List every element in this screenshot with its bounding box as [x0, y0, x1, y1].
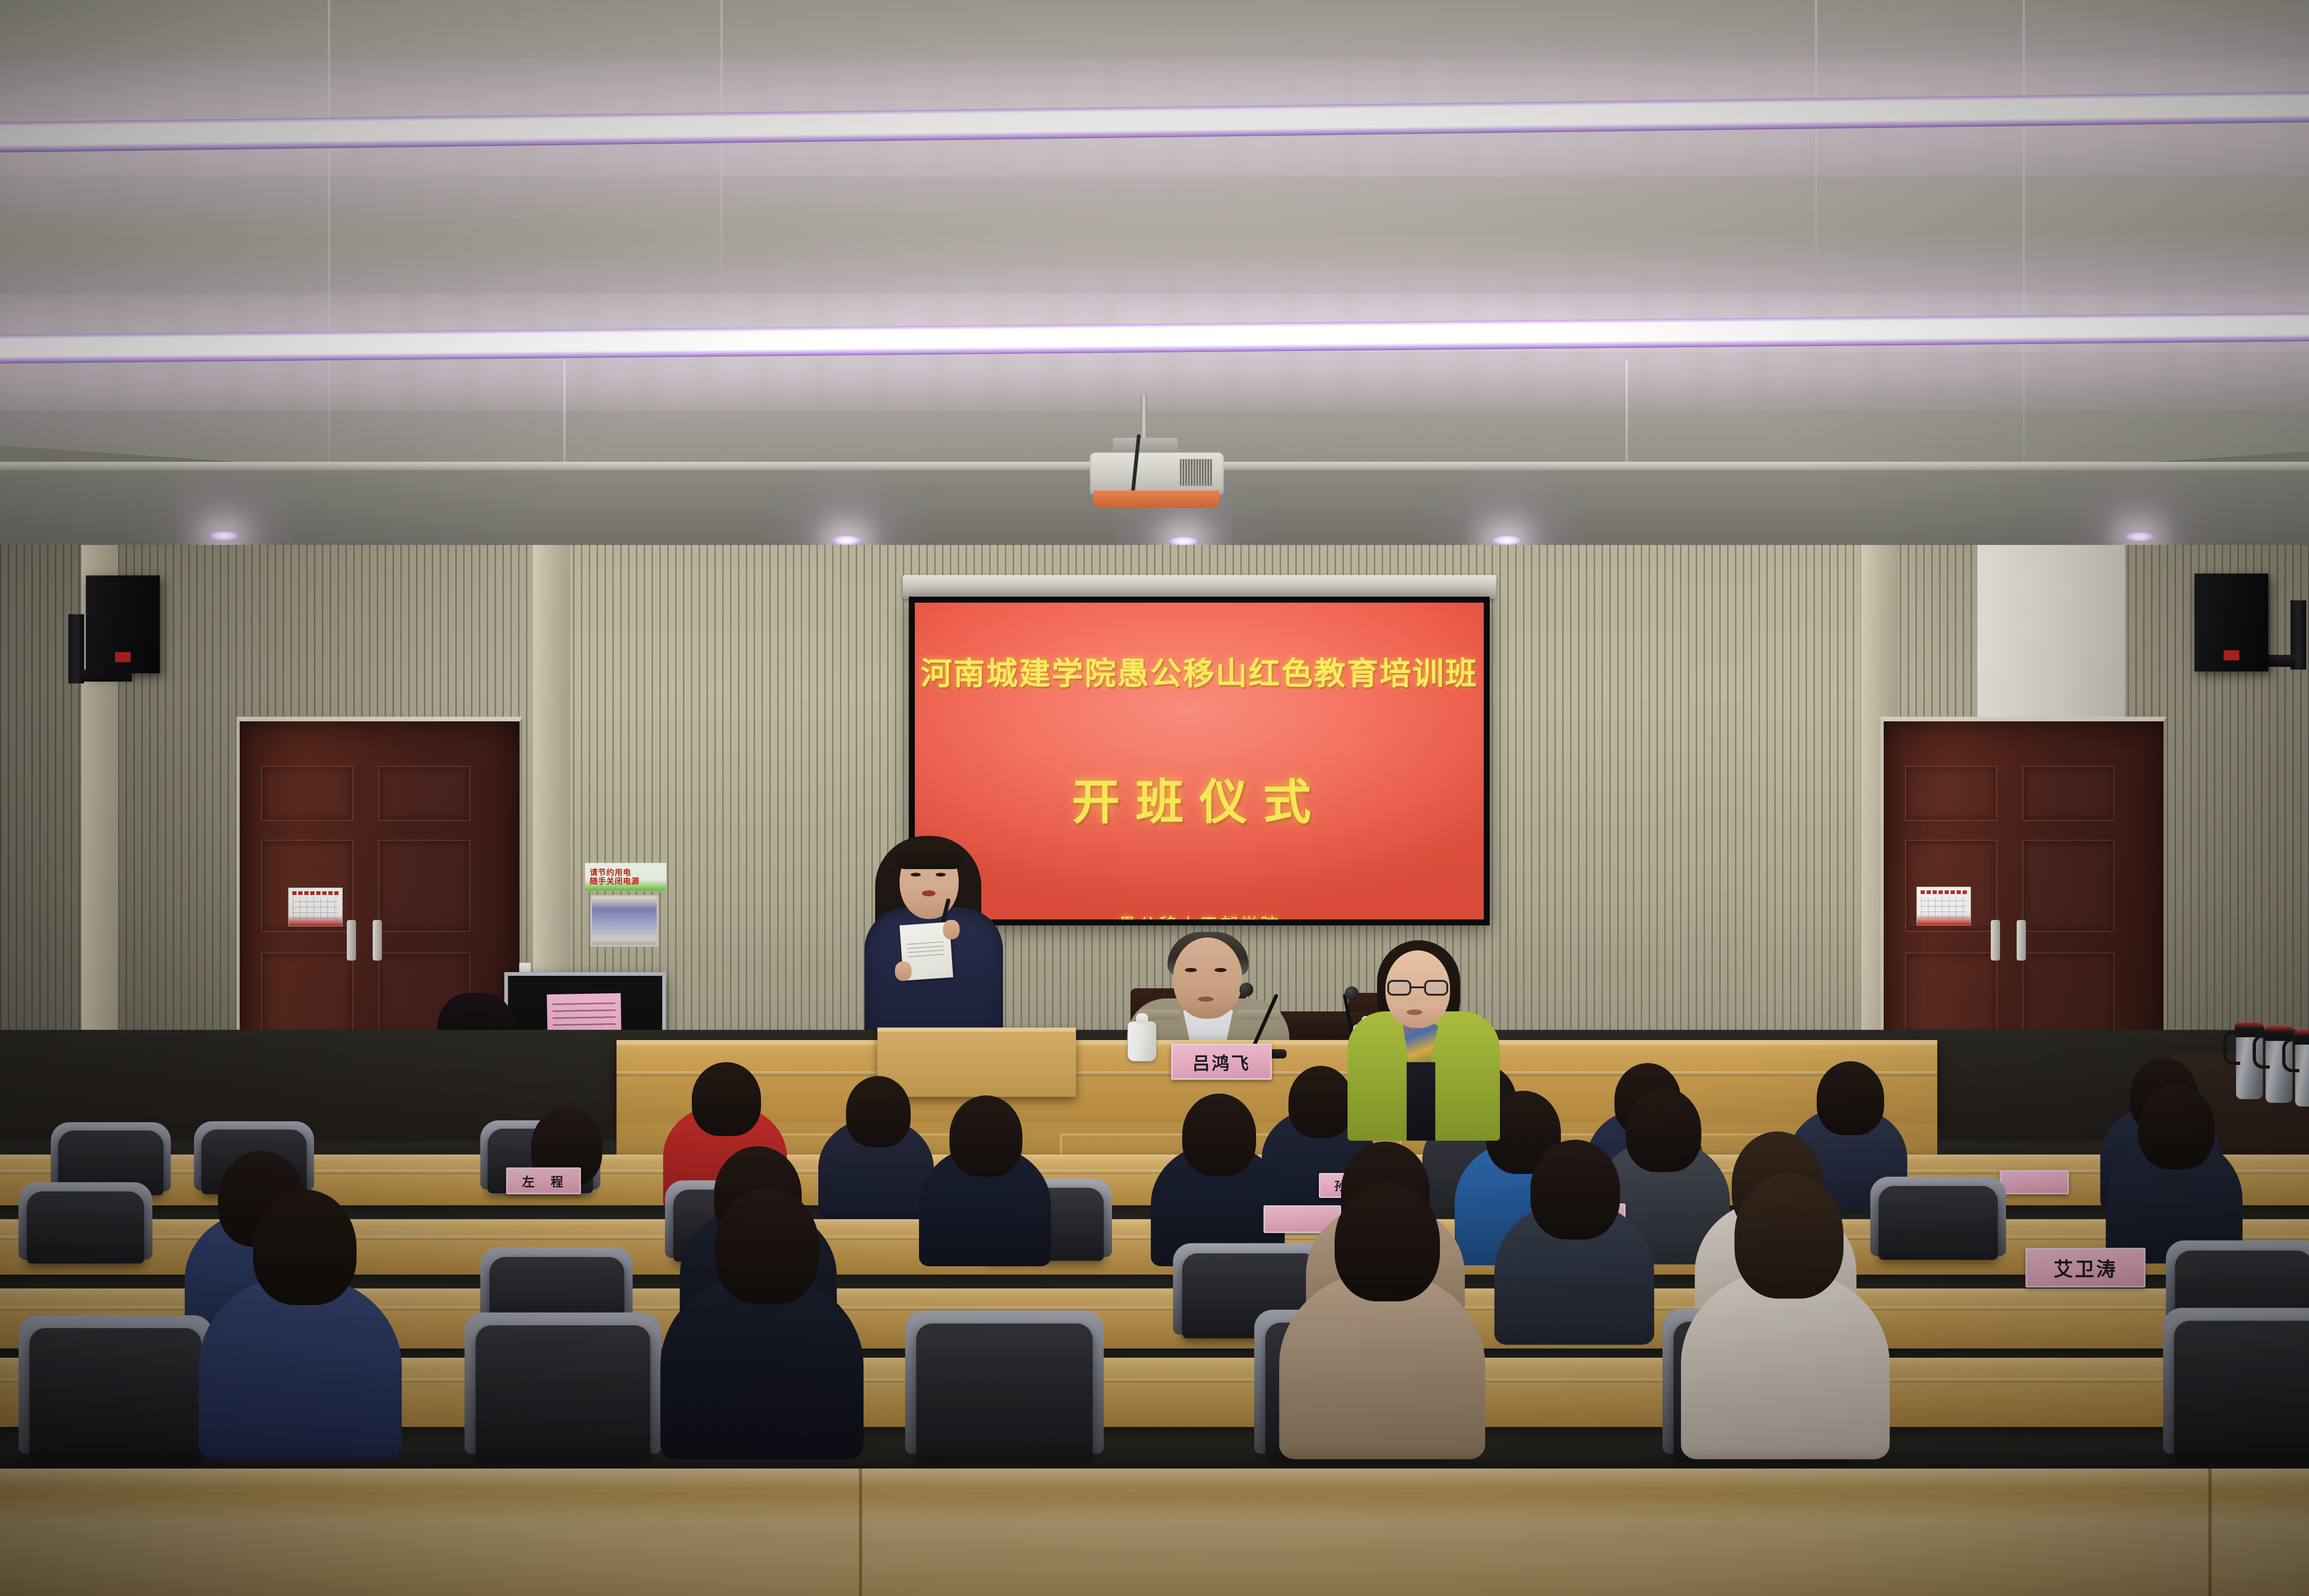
- attendee-head: [949, 1095, 1022, 1177]
- ceiling-seam: [720, 0, 723, 351]
- wall-control-panel[interactable]: [590, 895, 659, 947]
- wall-speaker-left: [86, 575, 160, 673]
- audience-placard: 左 程: [506, 1167, 581, 1194]
- door-panel: [378, 766, 471, 821]
- projection-screen-roller[interactable]: [903, 575, 1496, 599]
- speaker-brand-badge: [115, 652, 131, 662]
- downlight-icon: [831, 535, 862, 546]
- attendee-head: [692, 1062, 761, 1136]
- official-left-mouth: [1198, 997, 1214, 1002]
- projection-screen-content: 河南城建学院愚公移山红色教育培训班 开班仪式 愚公移山干部学院 2018. 4.…: [915, 603, 1484, 919]
- official-left-face: [1173, 937, 1242, 1019]
- audience-placard: 艾卫涛: [2025, 1248, 2146, 1288]
- official-left-eye: [1185, 968, 1197, 972]
- downlight-icon: [209, 530, 239, 541]
- ceiling-seam: [1815, 0, 1817, 351]
- energy-saving-sign: 请节约用电 随手关闭电源: [585, 863, 667, 891]
- door-handle-icon[interactable]: [347, 920, 356, 961]
- slide-organization: 愚公移山干部学院: [1118, 910, 1281, 919]
- door-panel: [2022, 840, 2115, 932]
- conference-hall-photo: 请节约用电 随手关闭电源 河南城建学院愚公移山红色教育培训班 开班仪式 愚公移山…: [0, 0, 2309, 1596]
- downlight-icon: [1492, 535, 1522, 546]
- wall-speaker-right: [2194, 574, 2268, 671]
- audience-chair: [2174, 1321, 2309, 1458]
- energy-sign-line2: 随手关闭电源: [590, 877, 666, 886]
- attendee-head: [715, 1188, 819, 1304]
- audience-chair: [1879, 1186, 1998, 1260]
- foreground-desk-edge: [0, 1469, 2309, 1490]
- attendee-head: [1288, 1066, 1353, 1138]
- host-hand: [943, 920, 960, 939]
- attendee-head: [846, 1076, 911, 1147]
- slide-main-heading: 开班仪式: [1072, 763, 1327, 833]
- door-panel: [2022, 766, 2115, 821]
- energy-sign-line1: 请节约用电: [590, 868, 666, 877]
- tea-cup: [1128, 1022, 1156, 1061]
- door-panel: [261, 952, 353, 1035]
- glasses-bridge: [1411, 986, 1424, 988]
- host-mouth: [922, 890, 936, 896]
- attendee-head: [1626, 1088, 1701, 1172]
- host-hand: [895, 961, 912, 981]
- desk-seam: [859, 1469, 862, 1596]
- head-table-placard: 吕鸿飞: [1171, 1044, 1272, 1080]
- door-handle-icon[interactable]: [1991, 920, 2000, 961]
- attendee-head: [253, 1190, 357, 1305]
- glasses-lens: [1387, 980, 1411, 996]
- eyeglasses-icon: [1387, 980, 1448, 996]
- attendee-head: [1530, 1140, 1620, 1239]
- official-left-eye: [1215, 968, 1227, 972]
- desk-seam: [2208, 1469, 2212, 1596]
- door-panel: [1905, 952, 1997, 1035]
- podium-desk: [877, 1028, 1076, 1097]
- microphone-head-icon: [1345, 986, 1359, 1000]
- audience-chair: [30, 1328, 201, 1458]
- door-panel: [1905, 766, 1997, 821]
- audience-placard: [2000, 1170, 2069, 1194]
- evacuation-plan-poster: [1916, 887, 1971, 925]
- official-right-inner-top: [1407, 1062, 1435, 1141]
- door-handle-icon[interactable]: [2017, 920, 2026, 961]
- door-panel: [378, 840, 471, 932]
- projector-vent: [1180, 459, 1212, 486]
- attendee-head: [1735, 1173, 1844, 1299]
- host-fringe: [896, 840, 963, 869]
- door-panel: [2022, 952, 2115, 1035]
- audience-chair: [27, 1191, 144, 1263]
- evacuation-plan-poster: [288, 888, 343, 926]
- door-panel: [261, 766, 353, 821]
- official-right-mouth: [1407, 1010, 1422, 1015]
- audience-chair: [916, 1324, 1093, 1458]
- projector-lens-housing: [1094, 490, 1219, 508]
- microphone-head-icon: [1239, 983, 1253, 997]
- attendee-head: [1817, 1061, 1884, 1135]
- slide-title: 河南城建学院愚公移山红色教育培训班: [920, 648, 1478, 694]
- projector-mount-rod: [1141, 395, 1147, 441]
- attendee-head: [1335, 1182, 1440, 1301]
- attendee-head: [1182, 1094, 1256, 1176]
- speaker-brand-badge: [2224, 650, 2239, 660]
- official-left-epaulette: [1237, 1010, 1281, 1020]
- glasses-lens: [1424, 980, 1448, 996]
- projection-screen: 河南城建学院愚公移山红色教育培训班 开班仪式 愚公移山干部学院 2018. 4.…: [909, 597, 1490, 925]
- host-eye: [936, 873, 946, 877]
- downlight-icon: [2124, 531, 2155, 542]
- audience-chair: [476, 1325, 650, 1458]
- door-handle-icon[interactable]: [373, 920, 382, 961]
- thermos-flask: [2295, 1042, 2309, 1106]
- attendee-head: [2138, 1084, 2215, 1169]
- host-eye: [911, 873, 921, 877]
